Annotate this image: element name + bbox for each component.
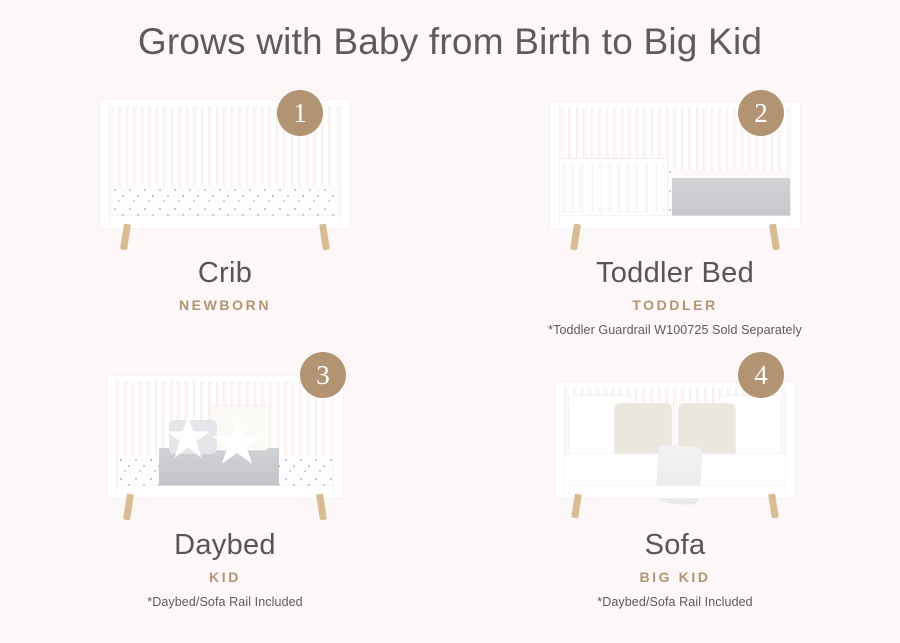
stage-note-daybed: *Daybed/Sofa Rail Included: [147, 595, 302, 609]
stage-age-crib: NEWBORN: [179, 297, 271, 313]
sofa-figure: 4: [450, 352, 900, 530]
crib-left-post: [100, 100, 109, 228]
stage-badge-1: 1: [277, 90, 323, 136]
page-title: Grows with Baby from Birth to Big Kid: [0, 21, 900, 63]
stage-age-sofa: BIG KID: [639, 569, 710, 585]
stage-badge-2: 2: [738, 90, 784, 136]
stage-name-sofa: Sofa: [645, 530, 706, 560]
toddler-grey-mattress: [672, 178, 790, 216]
stage-daybed[interactable]: 3: [0, 352, 450, 624]
stage-badge-4: 4: [738, 352, 784, 398]
toddler-right-post: [791, 102, 800, 228]
toddler-guardrail: [556, 158, 668, 218]
toddler-left-post: [550, 102, 559, 228]
stage-crib[interactable]: 1 Crib NEWBORN: [0, 80, 450, 352]
stage-note-sofa: *Daybed/Sofa Rail Included: [597, 595, 752, 609]
stages-grid: 1 Crib NEWBORN: [0, 80, 900, 640]
stage-note-toddler-bed: *Toddler Guardrail W100725 Sold Separate…: [548, 323, 802, 337]
crib-right-post: [341, 100, 350, 228]
sofa-left-arm: [555, 382, 564, 498]
guardrail-slats: [561, 163, 665, 213]
toddler-bed-figure: 2: [450, 80, 900, 258]
stage-name-daybed: Daybed: [174, 530, 276, 560]
stage-badge-3: 3: [300, 352, 346, 398]
stage-toddler-bed[interactable]: 2: [450, 80, 900, 352]
toddler-bottom-rail: [552, 216, 798, 228]
daybed-left-post: [107, 376, 116, 498]
sofa-bottom-rail: [557, 486, 793, 498]
crib-patterned-sheet: [112, 186, 338, 217]
daybed-figure: 3: [0, 352, 450, 530]
stage-name-toddler-bed: Toddler Bed: [596, 258, 754, 288]
crib-bottom-rail: [102, 216, 348, 228]
daybed-bottom-rail: [109, 486, 341, 498]
conversion-stages-infographic: Grows with Baby from Birth to Big Kid 1: [0, 0, 900, 643]
stage-age-toddler-bed: TODDLER: [632, 297, 718, 313]
crib-figure: 1: [0, 80, 450, 258]
stage-name-crib: Crib: [198, 258, 252, 288]
stage-age-daybed: KID: [209, 569, 241, 585]
stage-sofa[interactable]: 4: [450, 352, 900, 624]
sofa-right-arm: [786, 382, 795, 498]
